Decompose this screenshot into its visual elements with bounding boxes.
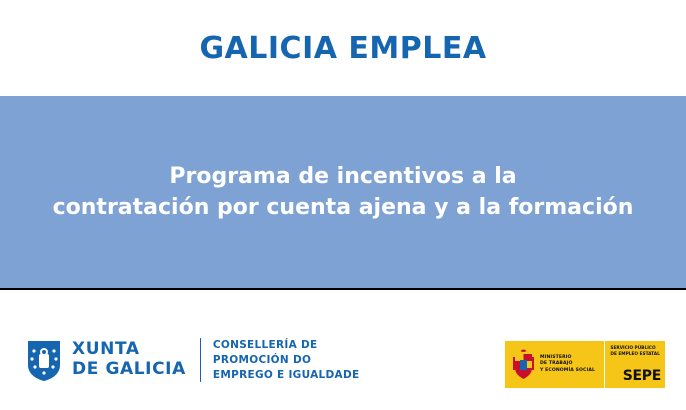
conselleria-line-2: PROMOCIÓN DO [213,353,360,368]
sepe-text: SERVICIO PÚBLICO DE EMPLEO ESTATAL [605,341,665,359]
conselleria-block: CONSELLERÍA DE PROMOCIÓN DO EMPREGO E IG… [213,338,360,383]
banner-line-1: Programa de incentivos a la [53,161,634,192]
sepe-logo: SERVICIO PÚBLICO DE EMPLEO ESTATAL SEPE [604,341,665,388]
galicia-coat-of-arms-icon [25,338,63,382]
sepe-acronym: SEPE [623,368,661,384]
ministerio-line-2: DE TRABAJO [540,361,595,368]
title-section: GALICIA EMPLEA [0,0,686,96]
ministerio-logo: MINISTERIO DE TRABAJO Y ECONOMÍA SOCIAL [505,341,604,388]
xunta-wordmark: XUNTA DE GALICIA [72,340,186,380]
conselleria-line-3: EMPREGO E IGUALDADE [213,368,360,383]
xunta-line-2: DE GALICIA [72,360,186,380]
conselleria-line-1: CONSELLERÍA DE [213,338,360,353]
banner-text: Programa de incentivos a la contratación… [31,161,656,223]
xunta-line-1: XUNTA [72,340,186,360]
vertical-divider [200,338,201,382]
ministerio-line-3: Y ECONOMÍA SOCIAL [540,368,595,375]
page-title: GALICIA EMPLEA [199,31,486,66]
banner-line-2: contratación por cuenta ajena y a la for… [53,192,634,223]
ministerio-text: MINISTERIO DE TRABAJO Y ECONOMÍA SOCIAL [540,355,595,375]
government-logos: MINISTERIO DE TRABAJO Y ECONOMÍA SOCIAL … [505,341,665,388]
footer-section: XUNTA DE GALICIA CONSELLERÍA DE PROMOCIÓ… [0,290,686,410]
sepe-line-2: DE EMPLEO ESTATAL [610,352,661,358]
program-banner: Programa de incentivos a la contratación… [0,96,686,288]
spain-coat-of-arms-icon [511,348,536,381]
poster-page: GALICIA EMPLEA Programa de incentivos a … [0,0,686,410]
xunta-logo: XUNTA DE GALICIA CONSELLERÍA DE PROMOCIÓ… [25,338,359,383]
